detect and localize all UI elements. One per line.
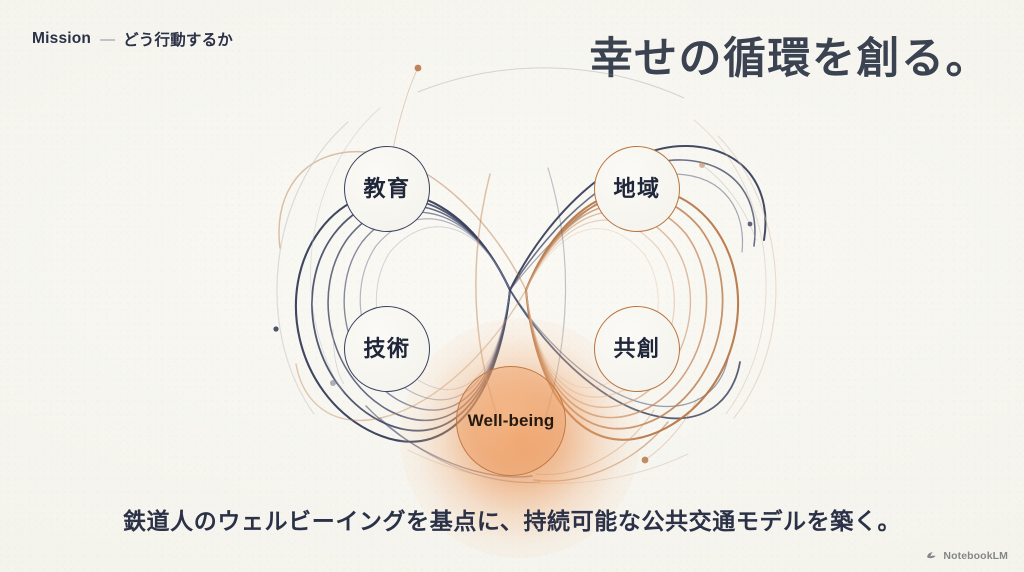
notebooklm-watermark: NotebookLM — [925, 549, 1008, 562]
node-wellbeing[interactable]: Well-being — [456, 366, 566, 476]
node-education-label: 教育 — [363, 178, 410, 200]
node-wellbeing-label: Well-being — [468, 411, 555, 431]
slide-canvas: Mission — どう行動するか 幸せの循環を創る。 — [0, 0, 1024, 572]
node-cocreation[interactable]: 共創 — [594, 306, 680, 392]
node-education[interactable]: 教育 — [344, 146, 430, 232]
eyebrow-label: Mission — [32, 30, 91, 48]
node-region[interactable]: 地域 — [594, 146, 680, 232]
node-technology[interactable]: 技術 — [344, 306, 430, 392]
node-technology-label: 技術 — [363, 338, 410, 360]
node-region-label: 地域 — [613, 178, 660, 200]
notebooklm-watermark-label: NotebookLM — [943, 550, 1008, 562]
node-cocreation-label: 共創 — [613, 338, 660, 360]
notebooklm-logo-icon — [925, 549, 938, 562]
eyebrow-subtitle: どう行動するか — [123, 28, 233, 50]
section-eyebrow: Mission — どう行動するか — [32, 28, 233, 50]
slide-caption: 鉄道人のウェルビーイングを基点に、持続可能な公共交通モデルを築く。 — [0, 502, 1024, 536]
eyebrow-dash-icon: — — [100, 31, 114, 48]
